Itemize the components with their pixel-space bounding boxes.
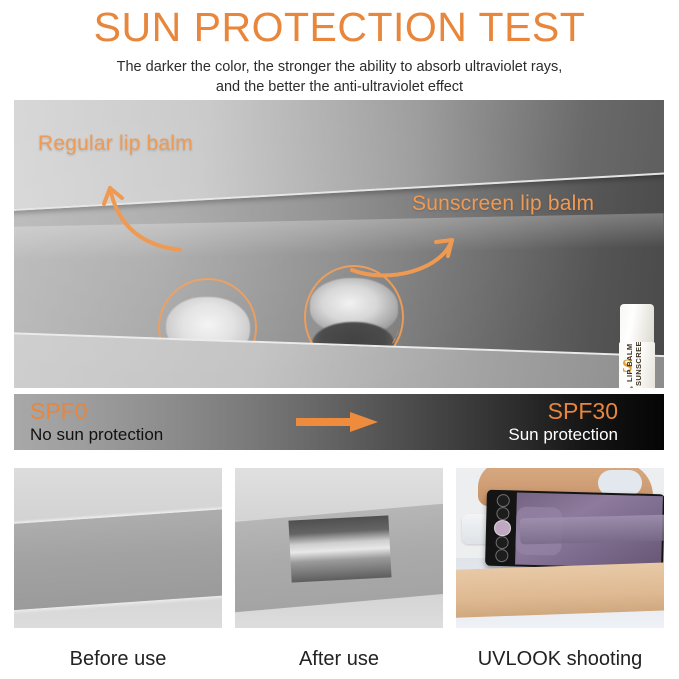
panel-uvlook-shooting-caption: UVLOOK shooting	[456, 648, 664, 671]
spf-left-caption: No sun protection	[30, 424, 163, 445]
arm-uv-plain	[14, 468, 222, 628]
panel-after-use-image	[235, 468, 443, 628]
annotation-label-sunscreen-lip-balm: Sunscreen lip balm	[412, 192, 594, 216]
panel-uvlook-shooting-image	[456, 468, 664, 628]
uv-screen-arm	[520, 515, 664, 545]
panel-before-use: Before use	[14, 468, 222, 679]
camera-controls-column	[490, 494, 514, 563]
spf-gradient-bar: SPF0 No sun protection SPF30 Sun protect…	[14, 394, 664, 450]
product-lip-balm-tube: S LIP BALM SUNSCREEN	[614, 304, 660, 388]
tube-label-line-1: LIP BALM	[625, 344, 634, 382]
shutter-button[interactable]	[493, 519, 510, 536]
spf-left-value: SPF0	[30, 399, 163, 424]
hero-uv-photo: Regular lip balm Sunscreen lip balm S LI…	[14, 100, 664, 388]
panel-after-use: After use	[235, 468, 443, 679]
settings-icon	[495, 536, 508, 549]
panel-before-use-image	[14, 468, 222, 628]
subtitle-line-2: and the better the anti-ultraviolet effe…	[0, 77, 679, 97]
arm-uv-with-swatch	[235, 468, 443, 628]
filter-icon	[495, 549, 508, 562]
subtitle-line-1: The darker the color, the stronger the a…	[0, 57, 679, 77]
spf-left-group: SPF0 No sun protection	[30, 399, 163, 445]
panel-uvlook-shooting: UVLOOK shooting	[456, 468, 664, 679]
spf-right-group: SPF30 Sun protection	[508, 399, 618, 445]
tube-label-line-2: SUNSCREEN	[634, 342, 643, 386]
real-forearm	[456, 562, 664, 618]
flash-icon	[496, 494, 509, 507]
forearm-skin	[14, 506, 222, 612]
annotation-label-regular-lip-balm: Regular lip balm	[38, 132, 193, 156]
subtitle: The darker the color, the stronger the a…	[0, 50, 679, 97]
header: SUN PROTECTION TEST The darker the color…	[0, 0, 679, 97]
spf-right-caption: Sun protection	[508, 424, 618, 445]
panel-after-use-caption: After use	[235, 648, 443, 671]
comparison-panels: Before use After use	[14, 468, 664, 679]
timer-icon	[496, 507, 509, 520]
page-title: SUN PROTECTION TEST	[0, 0, 679, 50]
tube-body: S LIP BALM SUNSCREEN	[619, 342, 655, 388]
spf-right-value: SPF30	[508, 399, 618, 424]
sunscreen-swatch	[288, 515, 391, 582]
panel-before-use-caption: Before use	[14, 648, 222, 671]
smartphone	[485, 490, 664, 571]
tube-label: S LIP BALM SUNSCREEN	[619, 348, 655, 388]
tube-cap	[620, 304, 654, 344]
arrow-right-icon	[296, 410, 382, 434]
phone-screen	[515, 492, 663, 568]
uv-shooting-scene	[456, 468, 664, 628]
